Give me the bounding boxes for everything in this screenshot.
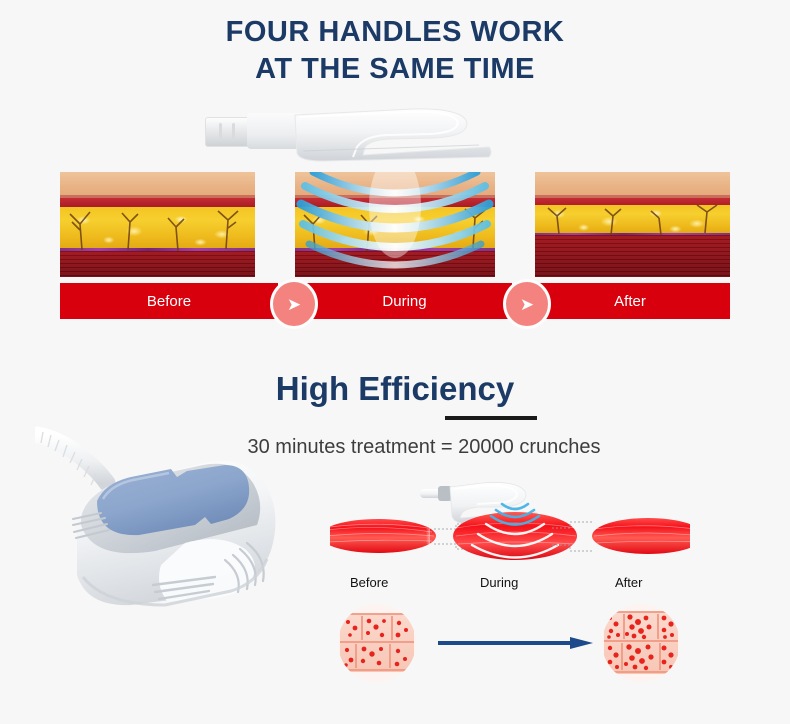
fibrous-septa <box>60 172 255 277</box>
infographic-page: FOUR HANDLES WORK AT THE SAME TIME <box>0 0 790 724</box>
muscle-label-during: During <box>480 575 518 590</box>
muscle-during <box>453 512 577 560</box>
fibrous-septa <box>295 172 495 277</box>
headline-line-1: FOUR HANDLES WORK <box>226 16 565 48</box>
muscle-label-after: After <box>615 575 642 590</box>
bar-label-during: During <box>297 283 512 319</box>
muscle-label-before: Before <box>350 575 388 590</box>
bar-label-after: After <box>530 283 730 319</box>
tissue-panel-after <box>535 172 730 277</box>
tissue-panel-during <box>295 172 495 277</box>
muscle-after <box>592 518 690 554</box>
handle-cable-connector <box>205 117 253 147</box>
fibrous-septa <box>535 172 730 277</box>
cross-section-comparison <box>330 604 690 684</box>
handle-body <box>293 107 493 163</box>
right-arrow-icon <box>438 637 593 649</box>
before-during-after-bar: Before During After ➤ ➤ <box>60 283 730 319</box>
headline-line-2: AT THE SAME TIME <box>0 51 790 88</box>
muscle-cross-section-after <box>602 604 680 682</box>
arrow-badge-1: ➤ <box>270 279 318 329</box>
right-arrow-icon: ➤ <box>287 296 301 313</box>
transition-arrow <box>438 637 593 649</box>
muscle-sequence <box>330 500 690 570</box>
ems-handpiece-device-icon <box>35 425 325 625</box>
bar-label-before: Before <box>60 283 278 319</box>
section2-title: High Efficiency <box>0 370 790 408</box>
top-applicator-handle-icon <box>205 99 490 171</box>
arrow-badge-2: ➤ <box>503 279 551 329</box>
section1-headline: FOUR HANDLES WORK AT THE SAME TIME <box>0 14 790 88</box>
muscle-labels: Before During After <box>330 575 690 595</box>
right-arrow-icon: ➤ <box>520 296 534 313</box>
title-divider <box>445 416 537 420</box>
tissue-panel-before <box>60 172 255 277</box>
tissue-panels <box>60 172 730 277</box>
muscle-before <box>330 519 436 553</box>
muscle-cross-section-before <box>338 604 416 682</box>
